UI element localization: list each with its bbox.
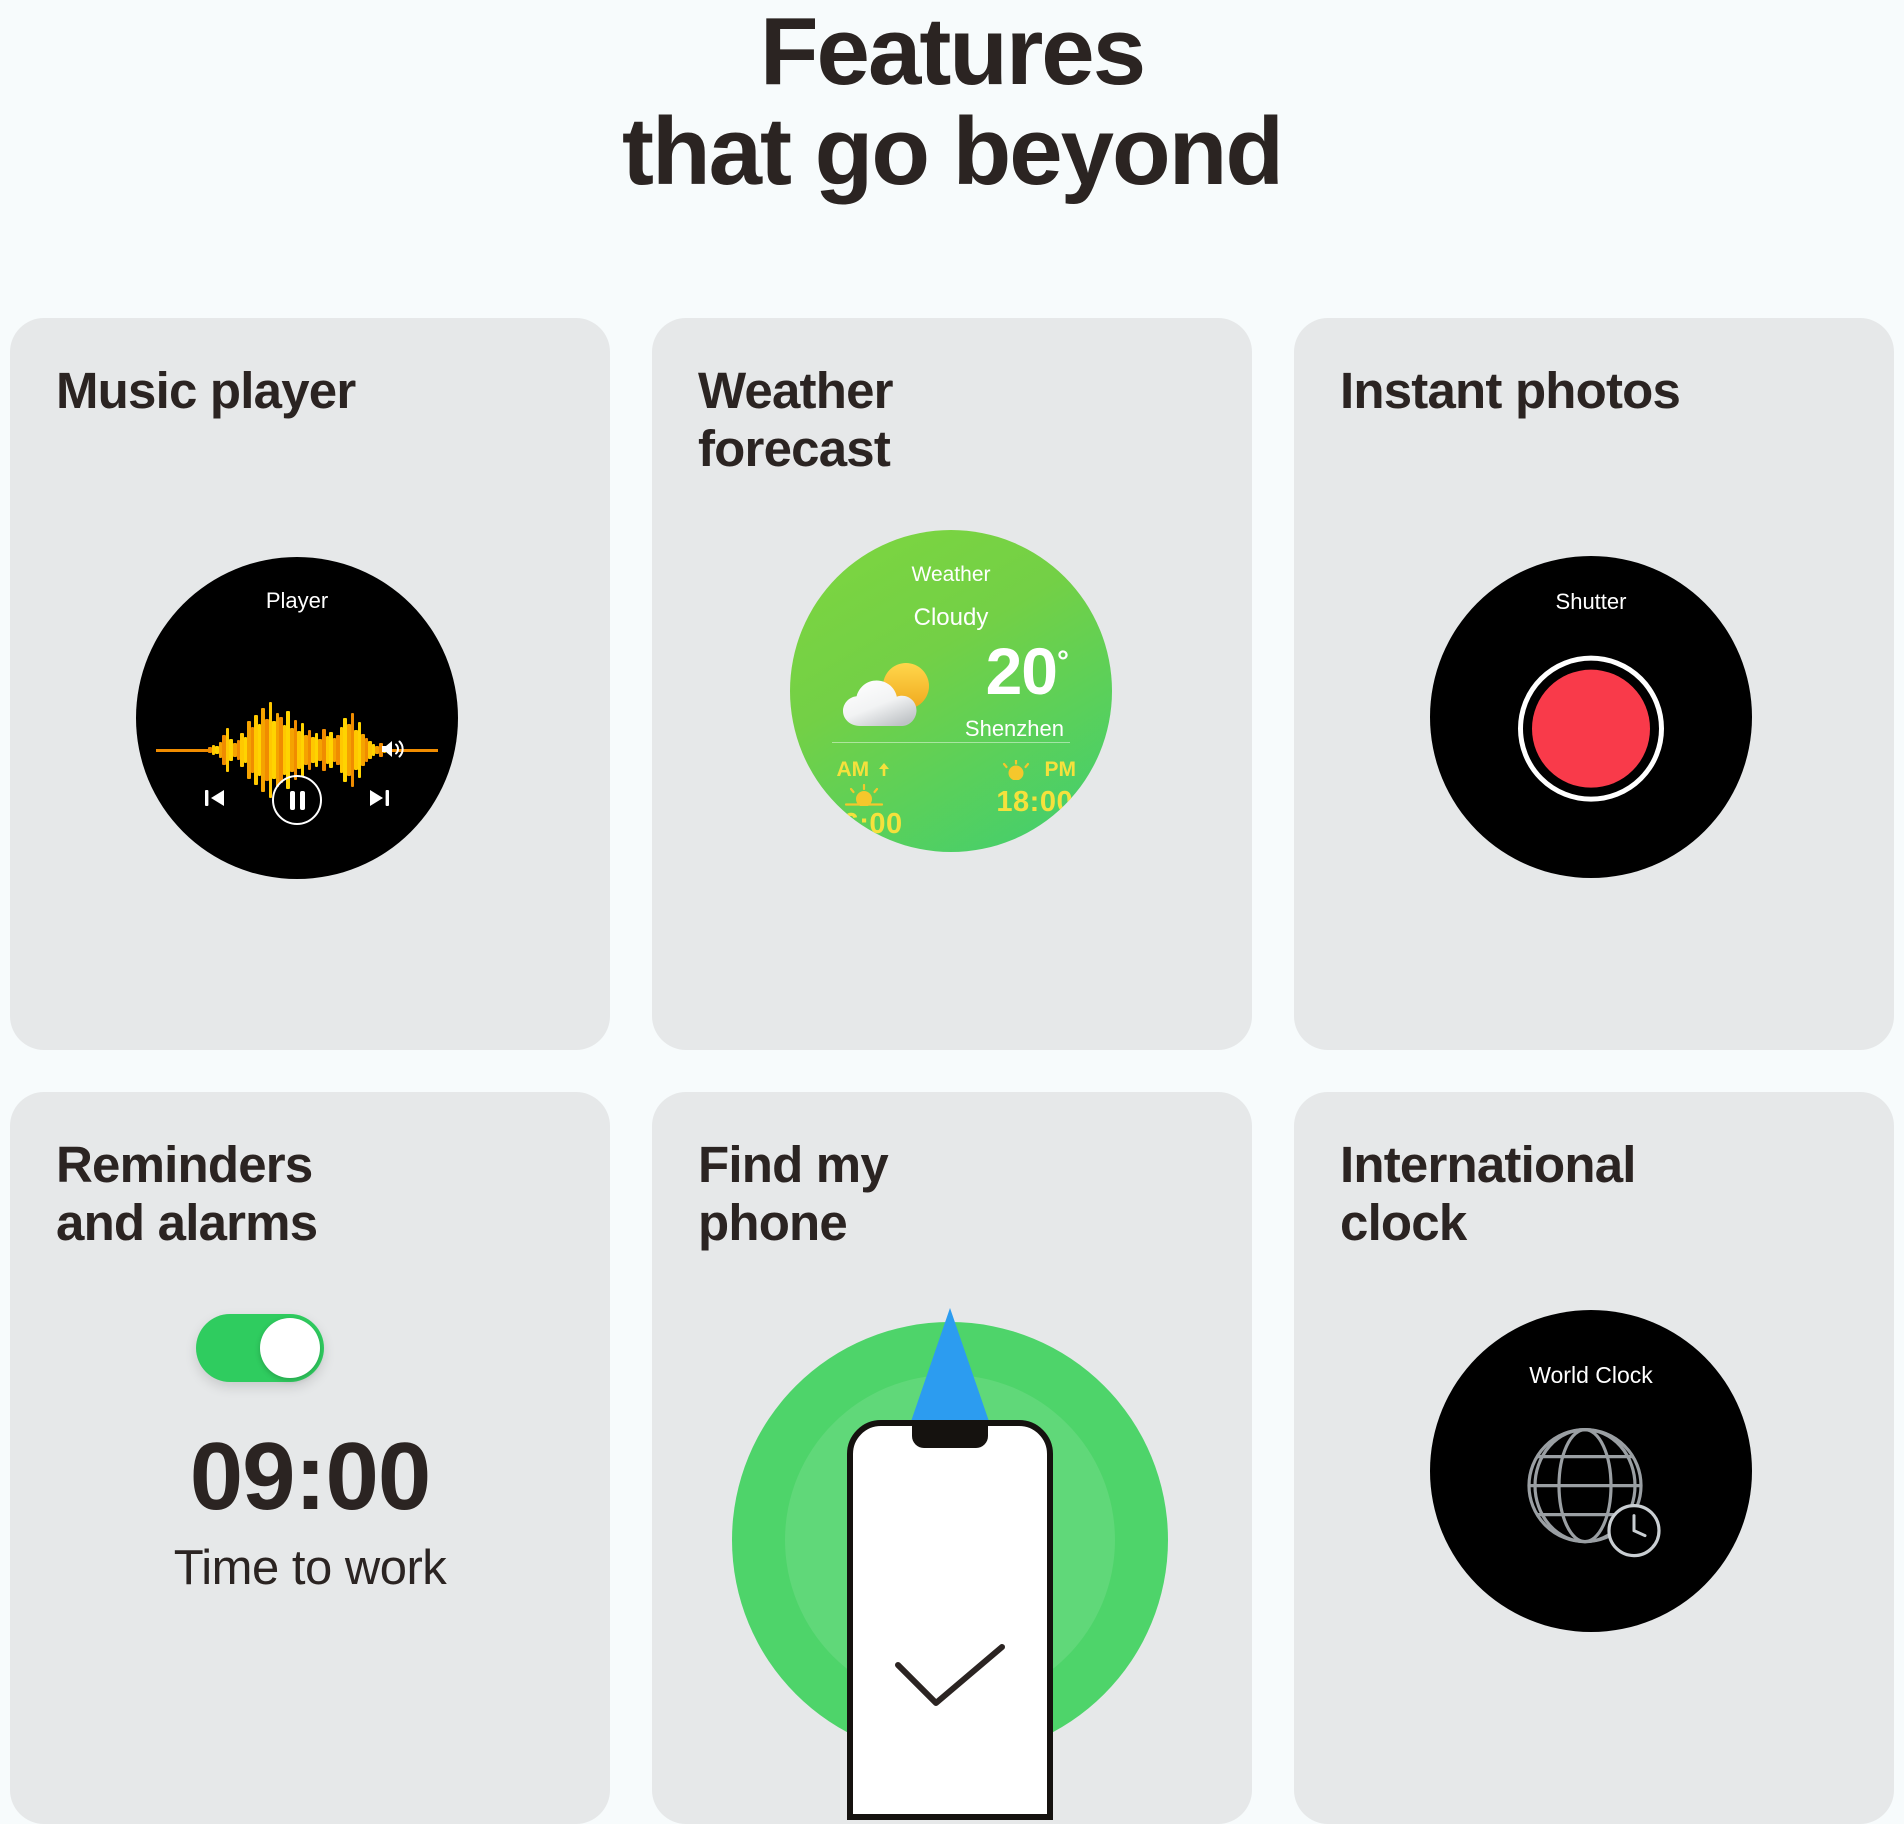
features-grid: Music player Player [10, 318, 1894, 1824]
card-title-reminders-and-alarms: Reminders and alarms [56, 1136, 317, 1252]
globe-clock-icon [1511, 1412, 1671, 1577]
phone-illustration [847, 1420, 1053, 1820]
sunset-time: 18:00 [994, 786, 1077, 819]
volume-icon[interactable] [380, 738, 406, 765]
checkmark-icon [892, 1641, 1008, 1713]
card-music-player[interactable]: Music player Player [10, 318, 610, 1050]
pause-button[interactable] [272, 775, 322, 825]
temperature-value: 20 [986, 634, 1057, 708]
previous-track-icon[interactable] [202, 786, 228, 815]
weather-temperature: 20° [986, 638, 1068, 704]
page-title-line-2: that go beyond [0, 102, 1904, 202]
weather-current-row: 20° Shenzhen [816, 638, 1086, 734]
watch-face-weather[interactable]: Weather Cloudy [790, 530, 1112, 852]
watch-label-shutter: Shutter [1430, 589, 1752, 615]
watch-label-world-clock: World Clock [1430, 1362, 1752, 1389]
sunset-block: PM 18:00 [994, 758, 1077, 841]
phone-notch [912, 1426, 988, 1448]
sunrise-sunset-row: AM 06:00 [826, 758, 1076, 841]
cloud-sun-icon [830, 656, 946, 739]
page-title-line-1: Features [760, 0, 1144, 105]
sunrise-head: AM [826, 758, 903, 782]
watch-face-camera[interactable]: Shutter [1430, 556, 1752, 878]
shutter-inner-dot [1532, 670, 1650, 788]
watch-label-player: Player [136, 588, 458, 614]
card-weather-forecast[interactable]: Weather forecast Weather Cloudy [652, 318, 1252, 1050]
shutter-button[interactable] [1518, 656, 1664, 802]
sunrise-time: 06:00 [826, 808, 903, 841]
sunset-icon [994, 760, 1038, 780]
card-title-music-player: Music player [56, 362, 355, 420]
alarm-toggle[interactable] [196, 1314, 324, 1382]
pause-icon [290, 791, 305, 810]
find-my-phone-graphic [700, 1302, 1200, 1822]
arrow-up-icon [876, 761, 892, 779]
sunset-period-label: PM [1045, 758, 1077, 782]
card-title-weather-forecast: Weather forecast [698, 362, 893, 478]
watch-face-music-player[interactable]: Player [136, 557, 458, 879]
card-title-find-my-phone: Find my phone [698, 1136, 888, 1252]
card-title-instant-photos: Instant photos [1340, 362, 1680, 420]
card-instant-photos[interactable]: Instant photos Shutter [1294, 318, 1894, 1050]
alarm-label: Time to work [10, 1540, 610, 1596]
card-find-my-phone[interactable]: Find my phone [652, 1092, 1252, 1824]
watch-label-weather: Weather [790, 563, 1112, 587]
weather-condition: Cloudy [790, 604, 1112, 632]
page-title: Features that go beyond [0, 0, 1904, 202]
sunrise-period-label: AM [837, 758, 870, 782]
weather-divider [832, 742, 1070, 743]
card-reminders-and-alarms[interactable]: Reminders and alarms 09:00 Time to work [10, 1092, 610, 1824]
sunset-head: PM [994, 758, 1077, 782]
player-transport-controls [136, 775, 458, 825]
degree-symbol: ° [1057, 645, 1068, 678]
alarm-time: 09:00 [10, 1422, 610, 1532]
card-title-international-clock: International clock [1340, 1136, 1636, 1252]
watch-face-world-clock[interactable]: World Clock [1430, 1310, 1752, 1632]
sunrise-icon [842, 784, 886, 806]
next-track-icon[interactable] [366, 786, 392, 815]
card-international-clock[interactable]: International clock World Clock [1294, 1092, 1894, 1824]
weather-city: Shenzhen [965, 716, 1064, 742]
feature-grid-page: Features that go beyond Music player Pla… [0, 0, 1904, 1824]
sunrise-block: AM 06:00 [826, 758, 903, 841]
alarm-toggle-knob [260, 1318, 320, 1378]
